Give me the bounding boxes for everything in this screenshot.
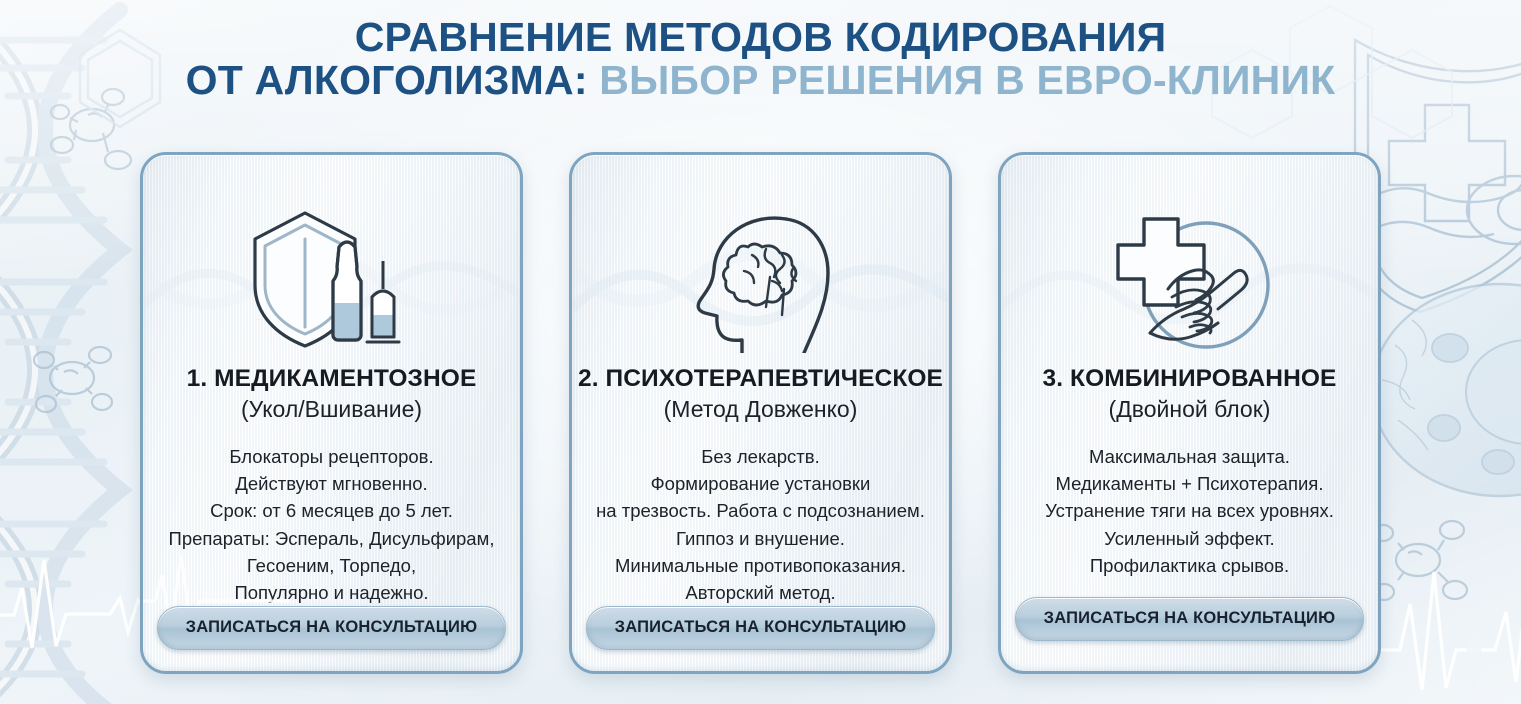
method-card-combined[interactable]: 3. КОМБИНИРОВАННОЕ (Двойной блок) Максим… — [998, 152, 1381, 674]
card-description-line: Минимальные противопоказания. — [596, 552, 925, 579]
card-description-line: Профилактика срывов. — [1045, 552, 1334, 579]
card-description-line: Популярно и надежно. — [169, 579, 495, 606]
card-title: 1. МЕДИКАМЕНТОЗНОЕ — [187, 365, 477, 393]
method-card-medication[interactable]: 1. МЕДИКАМЕНТОЗНОЕ (Укол/Вшивание) Блока… — [140, 152, 523, 674]
card-description-line: Авторский метод. — [596, 579, 925, 606]
card-description-line: Формирование установки — [596, 470, 925, 497]
ecg-line-icon — [1380, 572, 1521, 690]
card-description-line: на трезвость. Работа с подсознанием. — [596, 497, 925, 524]
card-description: Блокаторы рецепторов. Действуют мгновенн… — [159, 443, 505, 606]
cta-container: ЗАПИСАТЬСЯ НА КОНСУЛЬТАЦИЮ — [1015, 597, 1365, 641]
page-title-line-2-dark: ОТ АЛКОГОЛИЗМА: — [186, 57, 588, 103]
card-description-line: Медикаменты + Психотерапия. — [1045, 470, 1334, 497]
book-consultation-button[interactable]: ЗАПИСАТЬСЯ НА КОНСУЛЬТАЦИЮ — [157, 606, 507, 650]
card-description-line: Максимальная защита. — [1045, 443, 1334, 470]
book-consultation-button[interactable]: ЗАПИСАТЬСЯ НА КОНСУЛЬТАЦИЮ — [586, 606, 936, 650]
cell-icon — [1372, 284, 1521, 496]
card-description-line: Препараты: Эспераль, Дисульфирам, — [169, 525, 495, 552]
card-title: 3. КОМБИНИРОВАННОЕ — [1042, 365, 1336, 393]
card-description-line: Блокаторы рецепторов. — [169, 443, 495, 470]
cta-container: ЗАПИСАТЬСЯ НА КОНСУЛЬТАЦИЮ — [586, 606, 936, 650]
book-consultation-button[interactable]: ЗАПИСАТЬСЯ НА КОНСУЛЬТАЦИЮ — [1015, 597, 1365, 641]
page-title-line-2: ОТ АЛКОГОЛИЗМА: ВЫБОР РЕШЕНИЯ В ЕВРО-КЛИ… — [0, 59, 1521, 102]
method-cards-row: 1. МЕДИКАМЕНТОЗНОЕ (Укол/Вшивание) Блока… — [140, 152, 1381, 674]
dna-helix-icon — [0, 10, 120, 704]
method-card-psychotherapy[interactable]: 2. ПСИХОТЕРАПЕВТИЧЕСКОЕ (Метод Довженко)… — [569, 152, 952, 674]
molecule-icon — [34, 347, 112, 412]
molecule-icon — [1373, 521, 1467, 600]
page-title-line-2-light: ВЫБОР РЕШЕНИЯ В ЕВРО-КЛИНИК — [599, 57, 1335, 103]
infographic-root: СРАВНЕНИЕ МЕТОДОВ КОДИРОВАНИЯ ОТ АЛКОГОЛ… — [0, 0, 1521, 704]
card-description: Максимальная защита. Медикаменты + Психо… — [1035, 443, 1344, 579]
page-title-line-1: СРАВНЕНИЕ МЕТОДОВ КОДИРОВАНИЯ — [0, 16, 1521, 59]
cta-container: ЗАПИСАТЬСЯ НА КОНСУЛЬТАЦИЮ — [157, 606, 507, 650]
head-brain-icon — [686, 203, 836, 353]
card-description-line: Гиппоз и внушение. — [596, 525, 925, 552]
card-description-line: Действуют мгновенно. — [169, 470, 495, 497]
card-subtitle: (Укол/Вшивание) — [241, 396, 422, 423]
card-subtitle: (Двойной блок) — [1109, 396, 1271, 423]
card-description: Без лекарств. Формирование установки на … — [586, 443, 935, 606]
shield-ampoule-syringe-icon — [247, 203, 417, 353]
card-description-line: Усиленный эффект. — [1045, 525, 1334, 552]
card-description-line: Без лекарств. — [596, 443, 925, 470]
card-description-line: Устранение тяги на всех уровнях. — [1045, 497, 1334, 524]
card-subtitle: (Метод Довженко) — [664, 396, 858, 423]
page-title: СРАВНЕНИЕ МЕТОДОВ КОДИРОВАНИЯ ОТ АЛКОГОЛ… — [0, 16, 1521, 103]
card-title: 2. ПСИХОТЕРАПЕВТИЧЕСКОЕ — [578, 365, 943, 393]
sparkle-icon — [1460, 636, 1488, 688]
cross-helping-hands-icon — [1102, 203, 1277, 353]
card-description-line: Срок: от 6 месяцев до 5 лет. — [169, 497, 495, 524]
card-description-line: Гесоеним, Торпедо, — [169, 552, 495, 579]
